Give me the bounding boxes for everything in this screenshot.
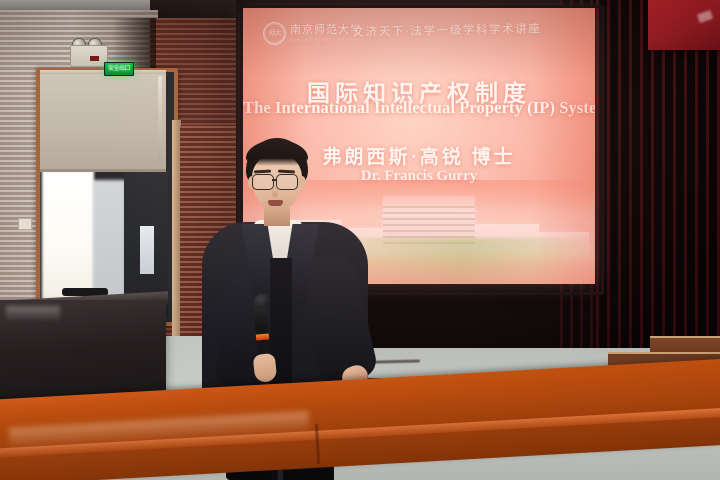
emergency-light-indicator [90,56,99,61]
exit-sign: 安全出口 [104,62,134,76]
speaker-nose [272,185,278,197]
glasses-bridge-icon [272,179,277,181]
wall-socket [18,218,32,230]
microphone-color-band [256,333,269,340]
speaker-mouth [268,200,283,206]
glasses-lens-right-icon [276,174,298,190]
exit-sign-face: 安全出口 [105,63,133,75]
speaker-ear-right [298,176,306,189]
glasses-lens-left-icon [252,174,274,190]
red-banner-valance [648,0,720,50]
blind-pull-cord[interactable] [158,76,162,162]
window-light-slit [140,226,154,274]
speaker-shoe-right [284,470,332,480]
podium-highlight [6,306,60,322]
stage-curtain [596,0,720,392]
emergency-light-fixture [70,45,108,67]
exit-sign-label: 安全出口 [108,66,130,72]
lecture-hall-photo: 安全出口 师大 南京师范大学 NANJING NORMAL UNIVERS [0,0,720,480]
window-roller-blind[interactable] [40,74,166,172]
speaker-fringe [246,140,308,166]
slide-title-en: The International Intellectual Property … [243,98,595,118]
